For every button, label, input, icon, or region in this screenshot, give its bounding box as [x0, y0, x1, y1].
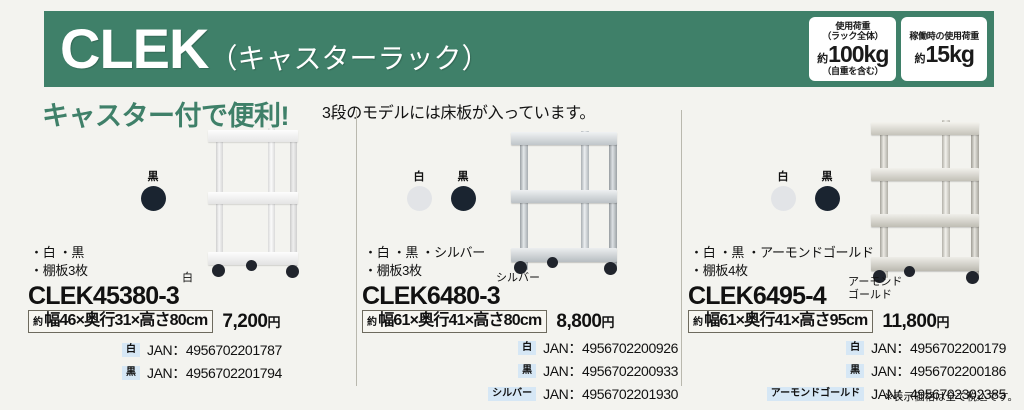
color-swatches: 白 黒	[406, 172, 476, 211]
price: 11,800円	[882, 311, 949, 333]
rack-shelf	[511, 190, 617, 203]
load-capacity-badge: 使用荷重 （ラック全体） 約100kg （自重を含む）	[809, 17, 896, 81]
rack-caster	[604, 262, 617, 275]
jan-color-tag: アーモンドゴールド	[767, 387, 864, 402]
spec-bullet-colors: ・白 ・黒 ・アーモンドゴールド	[690, 244, 874, 262]
jan-row: 黒 JAN：4956702200933	[416, 361, 678, 381]
load-capacity-value: 約100kg	[817, 42, 888, 66]
jan-code: JAN：4956702200926	[543, 338, 678, 358]
load-capacity-approx: 約	[817, 53, 828, 65]
color-swatch-black-label: 黒	[450, 172, 476, 183]
price-row: 約 幅61×奥行41×高さ80cm 8,800円	[362, 310, 614, 333]
jan-color-tag: シルバー	[488, 387, 536, 402]
product-photo-white-rack: 白	[194, 124, 324, 284]
rack-illustration	[194, 124, 324, 284]
price-value: 11,800	[882, 311, 936, 332]
jan-row: 黒 JAN：4956702200186	[710, 361, 1006, 381]
spec-badges: 使用荷重 （ラック全体） 約100kg （自重を含む） 稼働時の使用荷重 約15…	[809, 17, 987, 81]
price: 7,200円	[222, 311, 280, 333]
jan-row: 白 JAN：4956702200926	[416, 338, 678, 358]
rack-post	[942, 120, 950, 267]
load-capacity-note: （自重を含む）	[817, 67, 888, 76]
price-currency: 円	[937, 315, 950, 330]
column-divider-1	[356, 110, 357, 386]
rack-illustration	[858, 112, 1008, 292]
photo-color-caption: シルバー	[496, 272, 540, 285]
price-value: 8,800	[556, 311, 601, 332]
dimensions-approx: 約	[33, 317, 42, 329]
jan-code: JAN：4956702200186	[871, 361, 1006, 381]
rack-shelf	[208, 192, 298, 204]
jan-row: 白 JAN：4956702201787	[122, 340, 282, 360]
price-value: 7,200	[222, 311, 267, 332]
jan-row: 白 JAN：4956702200179	[710, 338, 1006, 358]
price-currency: 円	[601, 315, 614, 330]
rack-caster	[966, 271, 979, 284]
rack-caster	[904, 266, 915, 277]
color-swatch-white-dot	[407, 186, 432, 211]
color-swatch-black-label: 黒	[814, 172, 840, 183]
model-code: CLEK6480-3	[362, 282, 500, 311]
jan-code-list: 白 JAN：4956702200926 黒 JAN：4956702200933 …	[416, 338, 678, 407]
dimensions-value: 幅46×奥行31×高さ80cm	[44, 312, 207, 330]
spec-bullet-shelves: ・棚板3枚	[364, 262, 485, 280]
dimensions-box: 約 幅61×奥行41×高さ95cm	[688, 310, 873, 333]
spec-bullet-colors: ・白 ・黒 ・シルバー	[364, 244, 485, 262]
color-swatch-white-label: 白	[406, 172, 432, 183]
rack-caster	[246, 260, 257, 271]
price-row: 約 幅61×奥行41×高さ95cm 11,800円	[688, 310, 949, 333]
dimensions-approx: 約	[367, 317, 376, 329]
color-swatch-white[interactable]: 白	[770, 172, 796, 211]
rack-post	[971, 130, 979, 278]
spec-bullets: ・白 ・黒 ・アーモンドゴールド ・棚板4枚	[690, 244, 874, 279]
spec-bullets: ・白 ・黒 ・棚板3枚	[30, 244, 88, 279]
load-capacity-scope: （ラック全体）	[817, 32, 888, 41]
price-currency: 円	[267, 315, 280, 330]
spec-bullet-shelves: ・棚板3枚	[30, 262, 88, 280]
rack-shelf	[511, 132, 617, 145]
color-swatch-black-dot	[815, 186, 840, 211]
operating-load-value: 約15kg	[909, 42, 979, 66]
price: 8,800円	[556, 311, 614, 333]
color-swatch-white[interactable]: 白	[406, 172, 432, 211]
color-swatch-white-label: 白	[770, 172, 796, 183]
operating-load-title: 稼働時の使用荷重	[909, 32, 979, 41]
color-swatch-white-dot	[771, 186, 796, 211]
dimensions-box: 約 幅61×奥行41×高さ80cm	[362, 310, 547, 333]
rack-shelf	[511, 248, 617, 262]
rack-shelf	[871, 168, 979, 181]
product-photo-silver-rack: シルバー	[497, 118, 642, 288]
product-card-clek45380-3: 黒 白 ・白 ・黒 ・棚板3枚 CLEK45380-3	[24, 110, 354, 400]
operating-load-number: 15	[925, 41, 949, 67]
jan-color-tag: 白	[846, 341, 864, 356]
jan-code-list: 白 JAN：4956702201787 黒 JAN：4956702201794	[122, 340, 282, 386]
photo-color-caption: 白	[182, 272, 193, 285]
product-header-banner: CLEK （キャスターラック） 使用荷重 （ラック全体） 約100kg （自重を…	[44, 11, 994, 87]
jan-code: JAN：4956702201787	[147, 340, 282, 360]
spec-bullet-colors: ・白 ・黒	[30, 244, 88, 262]
color-swatches: 白 黒	[770, 172, 840, 211]
color-swatches: 黒	[140, 172, 166, 211]
jan-code: JAN：4956702200933	[543, 361, 678, 381]
model-code: CLEK45380-3	[28, 282, 179, 311]
color-swatch-black[interactable]: 黒	[450, 172, 476, 211]
operating-load-badge: 稼働時の使用荷重 約15kg	[901, 17, 987, 81]
jan-row: 黒 JAN：4956702201794	[122, 363, 282, 383]
rack-caster	[212, 264, 225, 277]
jan-code: JAN：4956702200179	[871, 338, 1006, 358]
operating-load-unit: kg	[949, 41, 974, 67]
page-title: CLEK （キャスターラック）	[60, 21, 489, 77]
photo-color-caption: アーモンド ゴールド	[848, 276, 902, 301]
tax-footnote: ※表示価格は全て税込です。	[884, 389, 1018, 404]
rack-illustration	[497, 118, 642, 288]
rack-shelf	[871, 214, 979, 227]
jan-color-tag: 白	[518, 341, 536, 356]
brand-name: CLEK	[60, 21, 208, 77]
jan-code: JAN：4956702201794	[147, 363, 282, 383]
catalog-page: CLEK （キャスターラック） 使用荷重 （ラック全体） 約100kg （自重を…	[0, 0, 1024, 410]
product-photo-almond-gold-rack: アーモンド ゴールド	[858, 112, 1008, 292]
dimensions-value: 幅61×奥行41×高さ80cm	[378, 312, 541, 330]
rack-shelf	[871, 122, 979, 135]
color-swatch-black[interactable]: 黒	[814, 172, 840, 211]
color-swatch-black-dot	[141, 186, 166, 211]
jan-row: シルバー JAN：4956702201930	[416, 384, 678, 404]
price-row: 約 幅46×奥行31×高さ80cm 7,200円	[28, 310, 280, 333]
color-swatch-black-label: 黒	[140, 172, 166, 183]
color-swatch-black-dot	[451, 186, 476, 211]
dimensions-box: 約 幅46×奥行31×高さ80cm	[28, 310, 213, 333]
product-card-clek6495-4: 白 黒 アーモンド ゴールド	[686, 110, 1022, 400]
column-divider-2	[681, 110, 682, 386]
rack-caster	[547, 257, 558, 268]
rack-shelf	[208, 130, 298, 142]
spec-bullet-shelves: ・棚板4枚	[690, 262, 874, 280]
jan-color-tag: 黒	[846, 364, 864, 379]
load-capacity-unit: kg	[864, 41, 889, 67]
jan-color-tag: 黒	[122, 366, 140, 381]
jan-color-tag: 黒	[518, 364, 536, 379]
load-capacity-number: 100	[828, 41, 863, 67]
rack-caster	[286, 265, 299, 278]
color-swatch-black[interactable]: 黒	[140, 172, 166, 211]
operating-load-approx: 約	[914, 53, 925, 65]
model-code: CLEK6495-4	[688, 282, 826, 311]
rack-shelf	[871, 257, 979, 271]
rack-post	[880, 128, 888, 278]
dimensions-value: 幅61×奥行41×高さ95cm	[704, 312, 867, 330]
product-card-clek6480-3: 白 黒 シルバー ・白 ・黒 ・シルバ	[360, 110, 678, 400]
dimensions-approx: 約	[693, 317, 702, 329]
jan-color-tag: 白	[122, 343, 140, 358]
jan-code: JAN：4956702201930	[543, 384, 678, 404]
brand-subtitle: （キャスターラック）	[209, 45, 489, 73]
spec-bullets: ・白 ・黒 ・シルバー ・棚板3枚	[364, 244, 485, 279]
